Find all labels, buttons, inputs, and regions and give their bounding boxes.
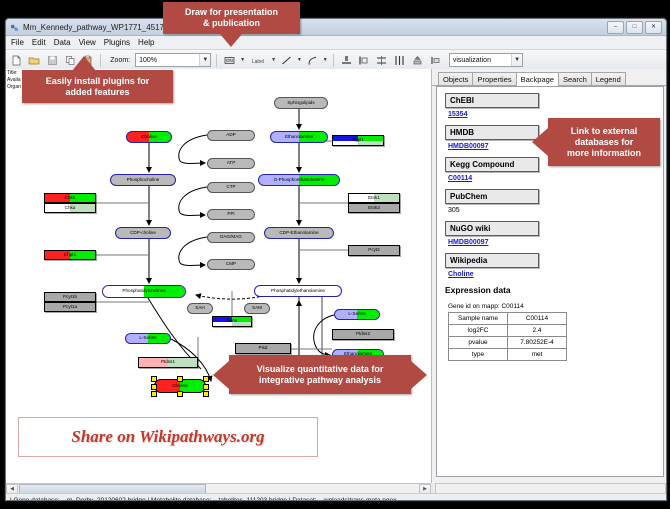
section-header-pubchem: PubChem: [445, 189, 539, 204]
callout-plugins: Easily install plugins for added feature…: [22, 70, 173, 103]
tab-search[interactable]: Search: [558, 72, 592, 85]
gene-id-label: Gene id on mapp: C00114: [448, 303, 663, 310]
order-icon[interactable]: [428, 53, 443, 68]
node-atp[interactable]: ATP: [207, 158, 255, 169]
datanode-icon[interactable]: DN: [222, 53, 237, 68]
svg-text:DN: DN: [226, 58, 233, 63]
resize-handle-n[interactable]: [177, 376, 183, 382]
section-header-chebi: ChEBI: [445, 93, 539, 108]
callout-visualize: Visualize quantitative data for integrat…: [229, 355, 411, 394]
node-adp[interactable]: ADP: [207, 130, 255, 141]
callout-draw: Draw for presentation & publication: [163, 2, 300, 34]
chevron-down-icon[interactable]: ▼: [199, 54, 210, 66]
tab-properties[interactable]: Properties: [472, 72, 516, 85]
menu-plugins[interactable]: Plugins: [104, 38, 130, 47]
node-label: SAH: [195, 306, 204, 311]
zoom-label: Zoom:: [110, 57, 130, 64]
callout-share-text: Share on Wikipathways.org: [71, 427, 264, 447]
callout-visualize-arrow-left: [213, 361, 229, 389]
minimize-button[interactable]: –: [607, 21, 624, 34]
node-label: CTP: [226, 185, 235, 190]
menu-file[interactable]: File: [11, 38, 24, 47]
toolbar-separator: [216, 54, 217, 67]
side-panel-tabs: Objects Properties Backpage Search Legen…: [432, 69, 666, 86]
link-chebi[interactable]: 15354: [448, 111, 663, 118]
cell-key: Sample name: [449, 313, 508, 325]
node-label: Choline: [172, 384, 188, 389]
stack-icon[interactable]: [410, 53, 425, 68]
node-label: Sphingolipids: [287, 101, 314, 106]
node-label: Pcyt2: [368, 248, 380, 253]
line-icon[interactable]: [279, 53, 294, 68]
chevron-down-icon[interactable]: ▼: [323, 57, 328, 63]
table-row: log2FC 2.4: [449, 325, 567, 337]
node-label: Choline: [141, 135, 157, 140]
visualization-value: visualization: [453, 57, 491, 64]
node-l-serine-left[interactable]: L-Serine: [125, 333, 171, 344]
callout-link-line1: Link to external: [571, 126, 638, 137]
node-label: Ptdss1: [161, 360, 175, 365]
gene-chkb[interactable]: Chkb: [44, 193, 96, 203]
gene-pcyt1a[interactable]: Pcyt1a: [44, 302, 96, 312]
callout-plugins-line1: Easily install plugins for: [46, 76, 150, 87]
table-row: type met: [449, 349, 567, 361]
node-label: Sgpl1: [352, 138, 364, 143]
zoom-combo[interactable]: 100% ▼: [135, 53, 211, 67]
cell-value: met: [508, 349, 567, 361]
node-l-serine-right[interactable]: L-Serine: [334, 309, 380, 320]
resize-handle-s[interactable]: [177, 391, 183, 397]
node-ppi[interactable]: PPi: [207, 209, 255, 220]
cell-value: C00114: [508, 313, 567, 325]
node-label: O-Phosphoethanolamine: [274, 178, 325, 183]
node-label: CDP-Ethanolamine: [279, 231, 318, 236]
link-wikipedia[interactable]: Choline: [448, 271, 663, 278]
node-label: Pcyt1a: [63, 305, 77, 310]
gene-pcyt2[interactable]: Pcyt2: [348, 245, 400, 256]
node-label: PPi: [227, 212, 234, 217]
resize-handle-sw[interactable]: [151, 391, 157, 397]
gene-pisd[interactable]: Pisd: [235, 343, 291, 354]
section-header-wikipedia: Wikipedia: [445, 253, 539, 268]
node-label: L-Serine: [348, 312, 365, 317]
node-label: Phosphocholine: [127, 178, 160, 183]
resize-handle-nw[interactable]: [151, 376, 157, 382]
node-label: Chka: [65, 206, 76, 211]
chevron-down-icon[interactable]: ▼: [271, 57, 276, 63]
callout-link-line3: more information: [567, 148, 641, 159]
label-icon[interactable]: Label: [248, 53, 268, 68]
node-ctp[interactable]: CTP: [207, 182, 255, 193]
resize-handle-se[interactable]: [203, 391, 209, 397]
tab-legend[interactable]: Legend: [591, 72, 626, 85]
distribute-horizontal-icon[interactable]: [392, 53, 407, 68]
menu-data[interactable]: Data: [54, 38, 71, 47]
tab-objects[interactable]: Objects: [438, 72, 473, 85]
statusbar-text: | Gene database: ...m_Derby_20120602.bri…: [10, 497, 396, 501]
node-phosphatidylcholines[interactable]: Phosphatidylcholines: [102, 285, 186, 298]
node-phosphocholine[interactable]: Phosphocholine: [110, 174, 176, 186]
callout-share: Share on Wikipathways.org: [18, 417, 318, 457]
menu-edit[interactable]: Edit: [32, 38, 46, 47]
callout-plugins-arrow: [72, 56, 96, 71]
node-label: L-Serine: [139, 336, 156, 341]
callout-draw-arrow: [220, 34, 242, 47]
resize-handle-w[interactable]: [151, 384, 157, 390]
callout-link-line2: databases for: [575, 137, 634, 148]
node-ethanolamine[interactable]: Ethanolamine: [270, 131, 328, 143]
node-label: SAM: [252, 306, 262, 311]
align-bottom-icon[interactable]: [339, 53, 354, 68]
node-sam[interactable]: SAM: [244, 303, 270, 314]
node-label: Etnk2: [368, 206, 380, 211]
arc-icon[interactable]: [305, 53, 320, 68]
node-label: Etnk1: [368, 196, 380, 201]
cell-key: pvalue: [449, 337, 508, 349]
close-button[interactable]: ✕: [645, 21, 662, 34]
gene-chka[interactable]: Chka: [44, 203, 96, 213]
gene-chpt1[interactable]: Chpt1: [44, 250, 96, 260]
callout-draw-line1: Draw for presentation: [185, 7, 278, 18]
toolbar-separator: [333, 54, 334, 67]
section-header-hmdb: HMDB: [445, 125, 539, 140]
node-cmp[interactable]: CMP: [207, 259, 255, 270]
node-label: ATP: [227, 161, 236, 166]
node-sphingolipids[interactable]: Sphingolipids: [274, 97, 328, 109]
window-buttons: – □ ✕: [607, 21, 662, 34]
toolbar: Zoom: 100% ▼ DN ▼ Label ▼ ▼ ▼: [6, 50, 666, 71]
app-icon: [10, 23, 19, 32]
section-header-kegg: Kegg Compound: [445, 157, 539, 172]
callout-viz-line1: Visualize quantitative data for: [257, 364, 384, 375]
node-label: Pisd: [259, 346, 268, 351]
node-label: Chkb: [65, 196, 76, 201]
new-file-icon[interactable]: [9, 53, 24, 68]
tab-backpage[interactable]: Backpage: [516, 72, 559, 86]
cell-value: 7.80252E-4: [508, 337, 567, 349]
save-icon[interactable]: [45, 53, 60, 68]
toolbar-separator: [100, 54, 101, 67]
cell-value: 2.4: [508, 325, 567, 337]
screenshot-root: Mm_Kennedy_pathway_WP1771_45176.gpml – □…: [0, 0, 670, 509]
gene-etnk2[interactable]: Etnk2: [348, 203, 400, 213]
node-label: CDP-choline: [130, 231, 156, 236]
align-left-icon[interactable]: [357, 53, 372, 68]
section-header-nugo-wiki: NuGO wiki: [445, 221, 539, 236]
gene-pemt[interactable]: Pemt: [212, 316, 252, 327]
callout-link-arrow: [532, 128, 548, 156]
node-label: Ptdss2: [356, 332, 370, 337]
cell-key: log2FC: [449, 325, 508, 337]
chevron-down-icon[interactable]: ▼: [240, 57, 245, 63]
node-label: Pcyt1b: [63, 295, 77, 300]
node-label: CMP: [226, 262, 236, 267]
gene-sgpl1[interactable]: Sgpl1: [332, 135, 384, 146]
window-titlebar: Mm_Kennedy_pathway_WP1771_45176.gpml – □…: [6, 19, 666, 36]
node-o-phosphoethanolamine[interactable]: O-Phosphoethanolamine: [258, 174, 340, 186]
expression-table: Sample name C00114 log2FC 2.4 pvalue 7.8…: [448, 312, 567, 361]
node-label: DAG/MAG: [220, 235, 242, 240]
gene-ptdss1[interactable]: Ptdss1: [138, 357, 198, 368]
menu-help[interactable]: Help: [138, 38, 154, 47]
chevron-down-icon[interactable]: ▼: [511, 54, 522, 66]
resize-handle-ne[interactable]: [203, 376, 209, 382]
chevron-down-icon[interactable]: ▼: [297, 57, 302, 63]
node-label: ADP: [226, 133, 235, 138]
node-cdp-ethanolamine[interactable]: CDP-Ethanolamine: [264, 227, 334, 239]
node-choline-top[interactable]: Choline: [126, 131, 172, 143]
callout-viz-line2: integrative pathway analysis: [259, 375, 381, 386]
node-label: Phosphatidylcholines: [122, 289, 165, 294]
statusbar: | Gene database: ...m_Derby_20120602.bri…: [6, 493, 667, 501]
distribute-vertical-icon[interactable]: [374, 53, 389, 68]
node-phosphatidylethanolamine[interactable]: Phosphatidylethanolamine: [254, 285, 342, 297]
link-kegg[interactable]: C00114: [448, 175, 663, 182]
resize-handle-e[interactable]: [203, 384, 209, 390]
visualization-combo[interactable]: visualization ▼: [449, 53, 523, 67]
gene-etnk1[interactable]: Etnk1: [348, 193, 400, 203]
menu-view[interactable]: View: [79, 38, 96, 47]
callout-visualize-arrow-right: [411, 361, 427, 389]
node-cdp-choline[interactable]: CDP-choline: [115, 227, 171, 239]
table-row: Sample name C00114: [449, 313, 567, 325]
open-folder-icon[interactable]: [27, 53, 42, 68]
node-label: Chpt1: [64, 253, 76, 258]
zoom-value: 100%: [139, 57, 157, 64]
expression-data-title: Expression data: [445, 285, 663, 295]
node-label: Pemt: [227, 319, 238, 324]
maximize-button[interactable]: □: [626, 21, 643, 34]
gene-pcyt1b[interactable]: Pcyt1b: [44, 292, 96, 302]
value-pubchem: 305: [448, 207, 663, 214]
callout-plugins-line2: added features: [65, 87, 129, 98]
callout-link-databases: Link to external databases for more info…: [548, 118, 660, 166]
link-nugo-wiki[interactable]: HMDB00097: [448, 239, 663, 246]
node-label: Phosphatidylethanolamine: [271, 289, 325, 294]
svg-text:Label: Label: [252, 59, 264, 65]
gene-ptdss2[interactable]: Ptdss2: [332, 329, 394, 340]
callout-draw-line2: & publication: [203, 18, 260, 29]
menubar: File Edit Data View Plugins Help: [6, 36, 666, 50]
node-label: Ethanolamine: [285, 135, 313, 140]
cell-key: type: [449, 349, 508, 361]
table-row: pvalue 7.80252E-4: [449, 337, 567, 349]
node-sah[interactable]: SAH: [187, 303, 213, 314]
node-dag-mag[interactable]: DAG/MAG: [207, 232, 255, 243]
